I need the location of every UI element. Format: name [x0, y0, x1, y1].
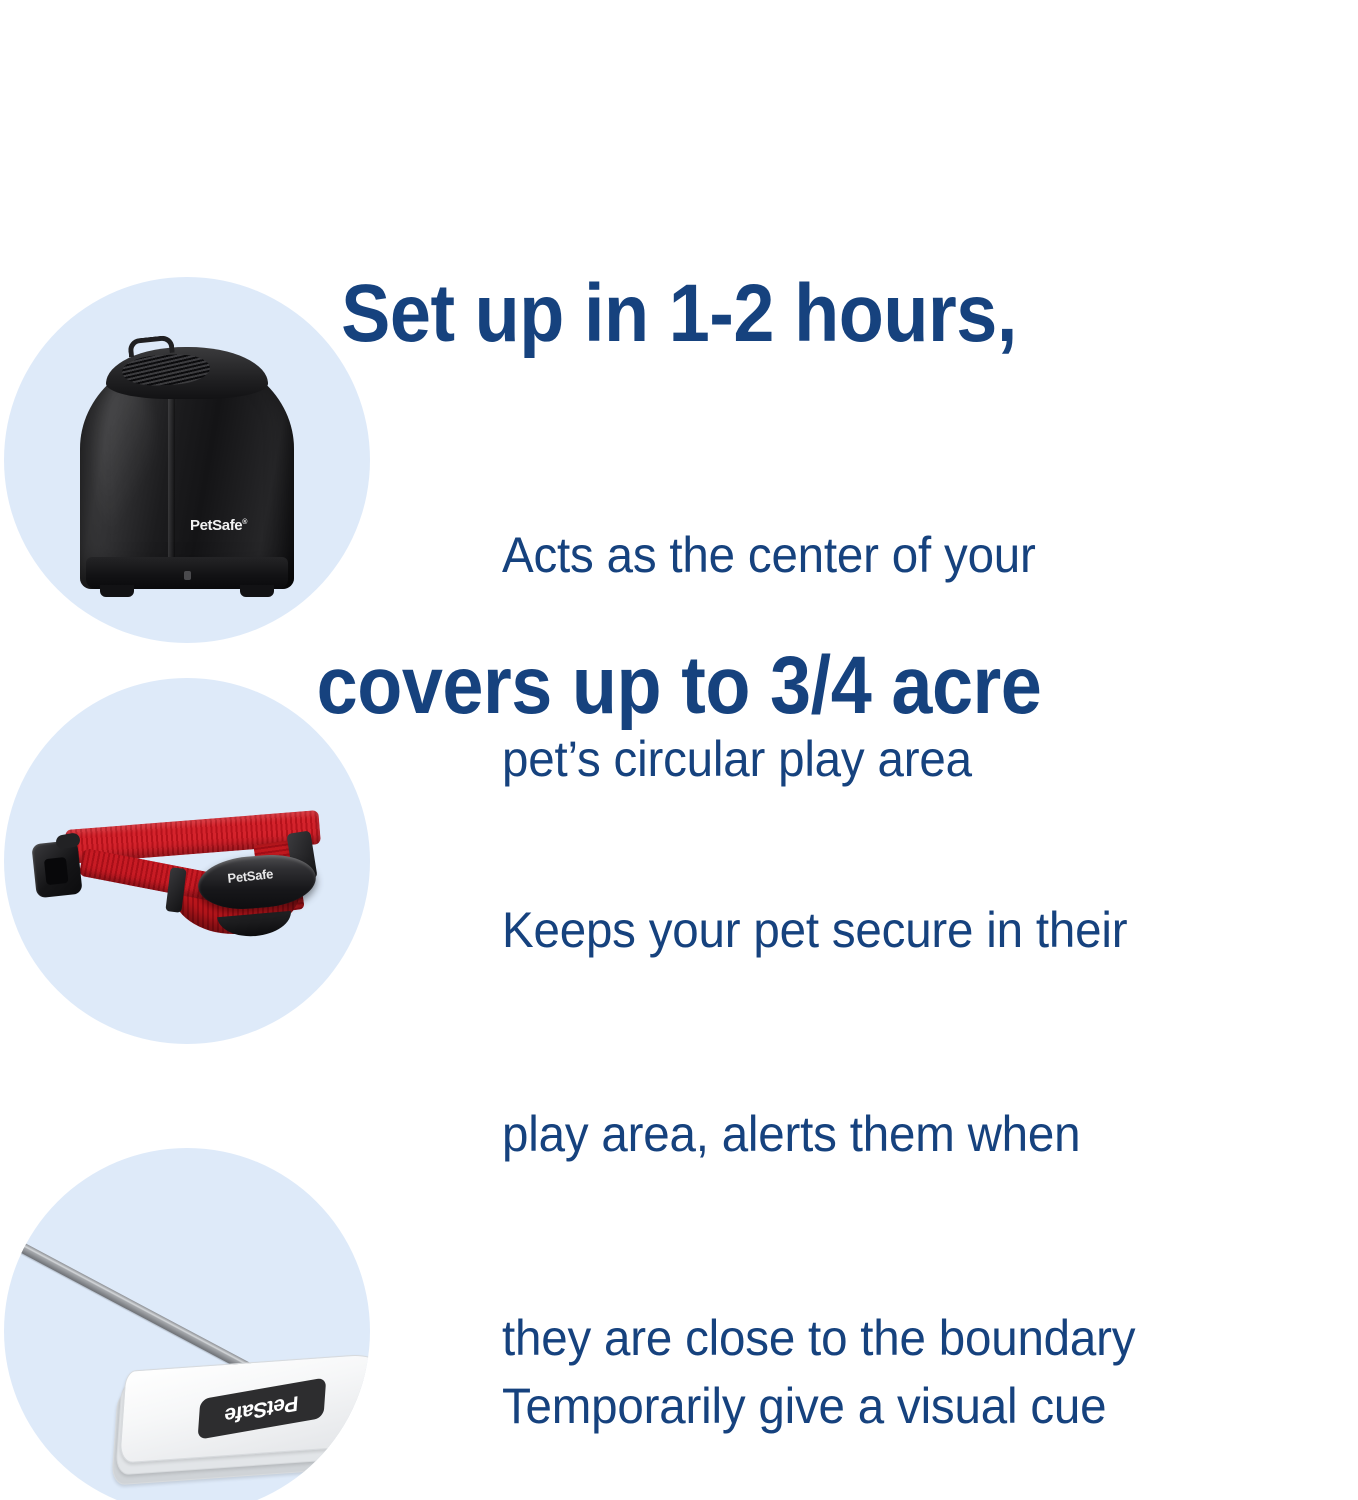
feature-row-transmitter: PetSafe® Acts as the center of your pet’…: [0, 277, 1358, 677]
transmitter-indicator-light: [184, 571, 191, 580]
feature-media-circle-transmitter: PetSafe®: [4, 277, 370, 643]
collar-buckle: [31, 840, 82, 899]
feature-text-line: Acts as the center of your: [502, 521, 1036, 589]
feature-media-circle-boundary-flags: PetSafe: [4, 1148, 370, 1500]
feature-text-line: Keeps your pet secure in their: [502, 896, 1135, 964]
transmitter-brand-trademark: ®: [242, 519, 247, 526]
transmitter-highlight: [98, 379, 156, 549]
flag-sheet-top: PetSafe: [119, 1352, 370, 1463]
transmitter-brand-text: PetSafe: [190, 517, 242, 534]
transmitter-foot-right: [240, 585, 274, 597]
feature-media-circle-collar: PetSafe: [4, 678, 370, 1044]
transmitter-brand-logo: PetSafe®: [190, 517, 247, 534]
transmitter-foot-left: [100, 585, 134, 597]
flag-stack: PetSafe: [108, 1354, 370, 1482]
feature-text-line: Temporarily give a visual cue: [502, 1372, 1106, 1440]
infographic-page: Set up in 1-2 hours, covers up to 3/4 ac…: [0, 0, 1358, 1500]
feature-row-boundary-flags: PetSafe Temporarily give a visual cue fo…: [0, 1148, 1358, 1500]
collar-brand-text: PetSafe: [227, 866, 274, 886]
receiver-collar-image: PetSafe: [22, 806, 358, 946]
feature-row-collar: PetSafe Keeps your pet secure in their p…: [0, 678, 1358, 1078]
boundary-training-flags-image: PetSafe: [12, 1188, 370, 1500]
flag-brand-text: PetSafe: [224, 1390, 299, 1427]
wireless-fence-transmitter-image: PetSafe®: [72, 325, 302, 605]
flag-brand-badge: PetSafe: [198, 1377, 327, 1440]
feature-text-boundary-flags: Temporarily give a visual cue for learni…: [502, 1236, 1106, 1500]
